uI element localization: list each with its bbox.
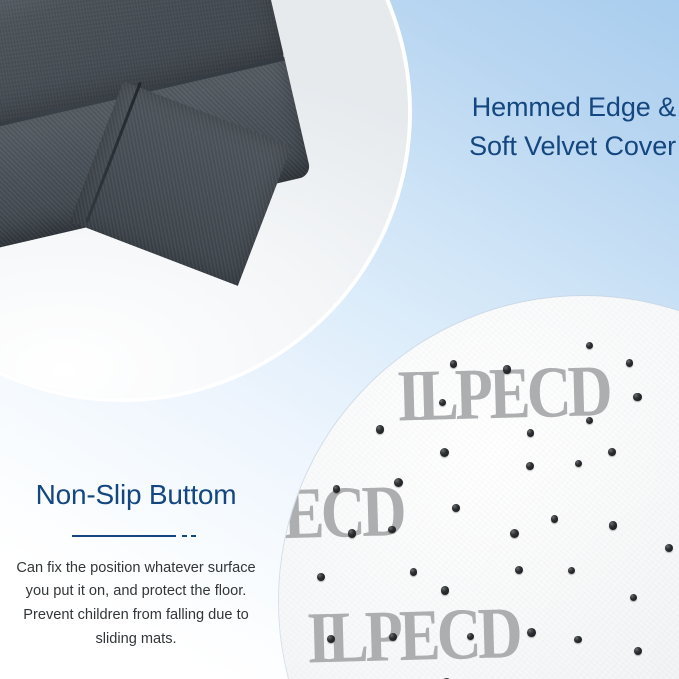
rubber-dot — [389, 633, 397, 641]
rubber-dot — [441, 586, 450, 595]
rubber-dot — [452, 504, 460, 512]
feature-body-line-4: sliding mats. — [0, 628, 272, 652]
brand-watermark: ILPECD — [306, 592, 520, 679]
rubber-dot — [394, 478, 403, 487]
heading-divider — [72, 529, 200, 543]
photo-non-slip-backing: ILPECD ILPECD ILPECD — [279, 296, 679, 679]
rubber-dot — [515, 566, 523, 574]
rubber-dot — [388, 526, 395, 533]
feature-block-bottom: Non-Slip Buttom Can fix the position wha… — [0, 478, 272, 651]
rubber-dot — [575, 460, 582, 467]
feature-body-line-2: you put it on, and protect the floor. — [0, 580, 272, 604]
rubber-dot — [348, 529, 356, 537]
rubber-dot — [586, 417, 593, 424]
rubber-dot — [527, 628, 536, 637]
feature-heading-top-line-2: Soft Velvet Cover — [392, 127, 676, 166]
rubber-dot — [333, 485, 340, 492]
feature-body-line-3: Prevent children from falling due to — [0, 604, 272, 628]
divider-dash-2 — [191, 535, 196, 537]
feature-heading-top: Hemmed Edge & Soft Velvet Cover — [392, 88, 676, 167]
rubber-dot — [317, 573, 325, 581]
rubber-dot — [551, 515, 558, 522]
feature-body-line-1: Can fix the position whatever surface — [0, 557, 272, 581]
feature-heading-bottom: Non-Slip Buttom — [0, 478, 272, 512]
product-feature-panel: ILPECD ILPECD ILPECD Hemmed Edge & Soft … — [0, 0, 679, 679]
brand-watermark: ILPECD — [279, 470, 404, 559]
feature-heading-top-line-1: Hemmed Edge & — [392, 88, 676, 127]
rubber-dot — [527, 429, 535, 437]
brand-watermark: ILPECD — [396, 350, 610, 439]
rubber-dot — [608, 448, 616, 456]
feature-body-bottom: Can fix the position whatever surface yo… — [0, 557, 272, 652]
rubber-dot — [503, 365, 512, 374]
rubber-dot — [439, 399, 446, 406]
rubber-dot — [609, 521, 618, 530]
divider-line — [72, 535, 176, 537]
divider-dash-1 — [182, 535, 187, 537]
rubber-dot — [327, 635, 335, 643]
